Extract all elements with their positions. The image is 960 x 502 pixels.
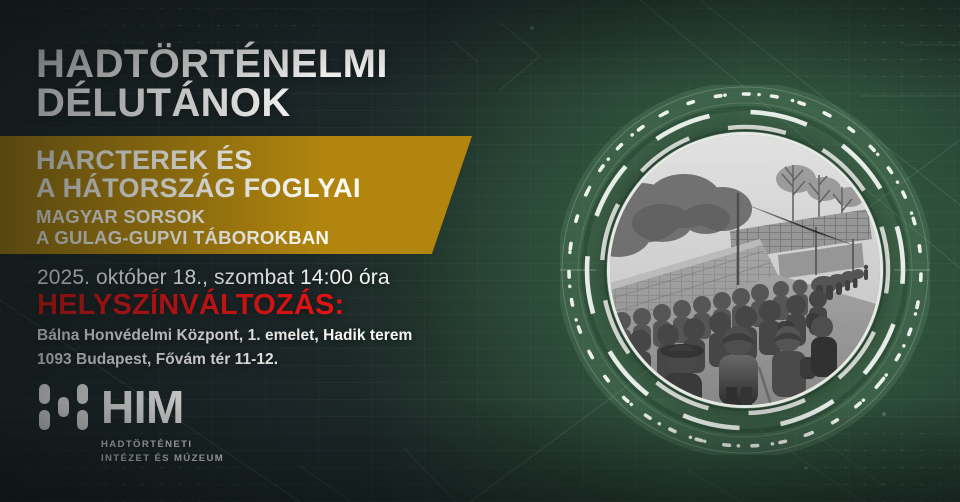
background-vignette [0, 0, 960, 502]
poster: Hadtörténelmi Délutánok Harcterek és a h… [0, 0, 960, 502]
